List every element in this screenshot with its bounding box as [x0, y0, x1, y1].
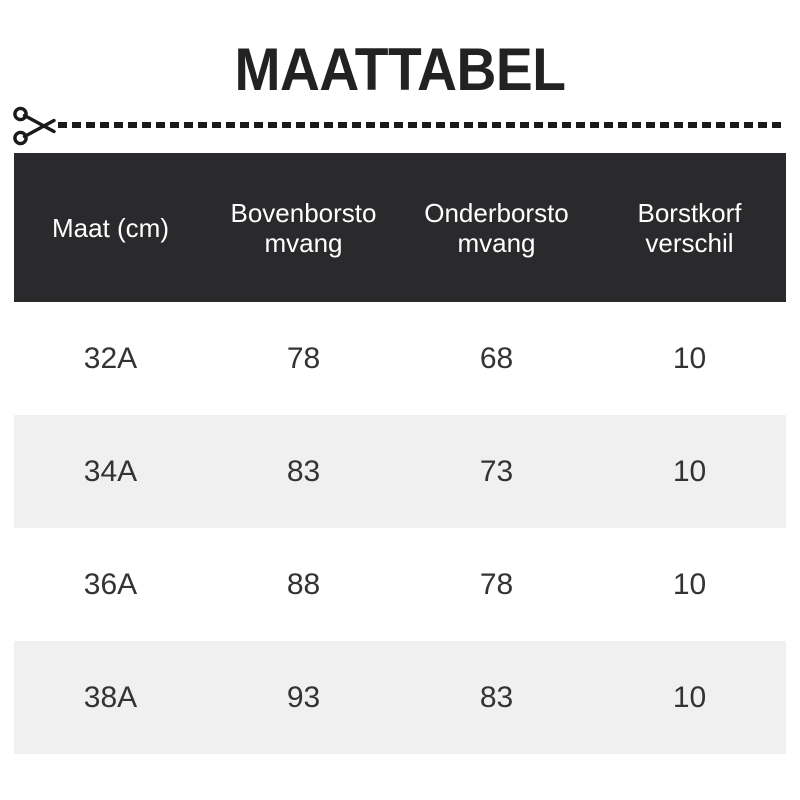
size-chart-page: MAATTABEL Maat (cm) Bovenborsto mvang	[0, 0, 800, 800]
cell-maat: 36A	[14, 568, 207, 602]
column-header-bovenborstomvang-line1: Bovenborsto	[209, 198, 398, 228]
cell-maat: 32A	[14, 342, 207, 376]
cell-maat: 34A	[14, 455, 207, 489]
cell-onderborstomvang: 68	[400, 342, 593, 376]
cell-borstkorfverschil: 10	[593, 455, 786, 489]
cell-maat: 38A	[14, 681, 207, 715]
cell-borstkorfverschil: 10	[593, 681, 786, 715]
cell-bovenborstomvang: 78	[207, 342, 400, 376]
cell-onderborstomvang: 73	[400, 455, 593, 489]
scissors-icon	[12, 106, 58, 146]
cell-bovenborstomvang: 93	[207, 681, 400, 715]
column-header-onderborstomvang: Onderborsto mvang	[400, 198, 593, 258]
cell-borstkorfverschil: 10	[593, 568, 786, 602]
cell-bovenborstomvang: 88	[207, 568, 400, 602]
table-header-row: Maat (cm) Bovenborsto mvang Onderborsto …	[14, 153, 786, 302]
cell-borstkorfverschil: 10	[593, 342, 786, 376]
table-row: 34A 83 73 10	[14, 415, 786, 528]
column-header-bovenborstomvang-line2: mvang	[209, 228, 398, 258]
cell-onderborstomvang: 83	[400, 681, 593, 715]
dashed-cut-line	[58, 122, 786, 128]
table-row: 32A 78 68 10	[14, 302, 786, 415]
page-title: MAATTABEL	[32, 36, 768, 104]
column-header-onderborstomvang-line1: Onderborsto	[402, 198, 591, 228]
column-header-bovenborstomvang: Bovenborsto mvang	[207, 198, 400, 258]
column-header-onderborstomvang-line2: mvang	[402, 228, 591, 258]
size-table: Maat (cm) Bovenborsto mvang Onderborsto …	[14, 153, 786, 754]
column-header-maat: Maat (cm)	[14, 213, 207, 243]
table-row: 38A 93 83 10	[14, 641, 786, 754]
table-row: 36A 88 78 10	[14, 528, 786, 641]
column-header-borstkorfverschil-line2: verschil	[595, 228, 784, 258]
column-header-borstkorfverschil: Borstkorf verschil	[593, 198, 786, 258]
cell-onderborstomvang: 78	[400, 568, 593, 602]
column-header-borstkorfverschil-line1: Borstkorf	[595, 198, 784, 228]
cut-line	[12, 106, 788, 146]
cell-bovenborstomvang: 83	[207, 455, 400, 489]
column-header-maat-line1: Maat (cm)	[16, 213, 205, 243]
